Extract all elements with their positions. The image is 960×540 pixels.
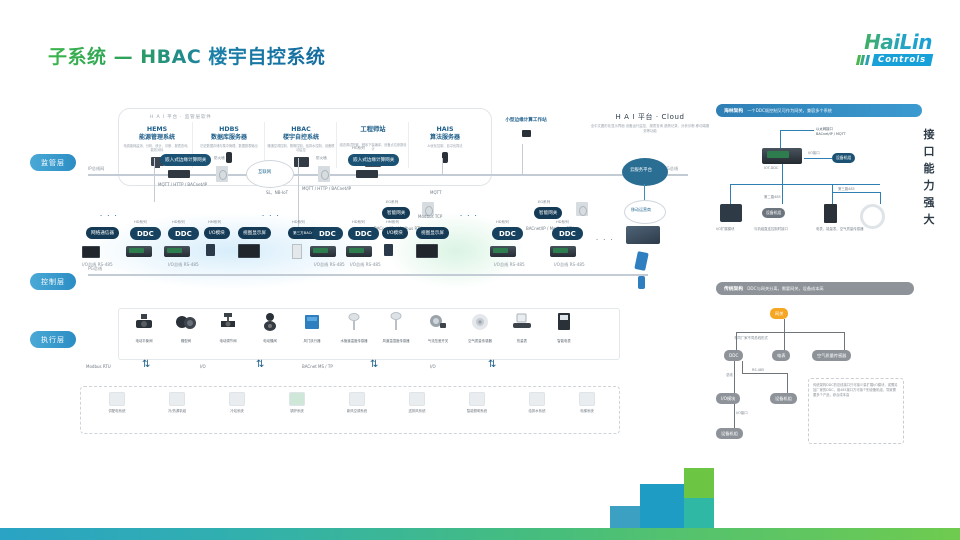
uplink-interface-label: 以太网接口	[816, 126, 833, 131]
io-module-icon	[384, 244, 393, 256]
io-expansion-caption: I/O扩展模块	[716, 226, 734, 231]
control-valve-icon	[218, 312, 238, 332]
router-icon	[82, 246, 100, 258]
protocol-io-1: I/O	[200, 364, 206, 369]
damper-actuator-icon	[302, 312, 322, 332]
firewall-icon-1	[216, 166, 228, 182]
cloud-platform-label: 云服务平台	[630, 167, 652, 173]
series-label-hd-1: HD系列	[134, 220, 147, 225]
elevator-icon	[579, 392, 595, 406]
cloud-platform-title: H A I 平台 · Cloud 全中文图形化显示界面 设备运行监控、报表查询 …	[590, 112, 710, 134]
logo-bars-icon	[857, 55, 869, 65]
series-label-hd-3: HD系列	[292, 220, 305, 225]
system-item[interactable]: 锅炉系统	[268, 392, 326, 413]
workstation-icon	[294, 157, 309, 167]
layer-label-supervision: 监管层	[30, 154, 76, 171]
logo-wordmark: HaiLin	[824, 32, 932, 52]
system-item[interactable]: 送排风系统	[388, 392, 446, 413]
ddc-icon	[310, 246, 336, 257]
chiller-icon	[169, 392, 185, 406]
link-label-485: RS-485	[752, 368, 764, 372]
bus-label-485-3: 第三路485	[838, 186, 855, 191]
edge-workstation[interactable]: 小型边缘计算工作站	[500, 118, 552, 137]
firewall-icon-4	[576, 202, 588, 216]
water-supply-icon	[529, 392, 545, 406]
exec-item[interactable]: 智能电表	[536, 312, 592, 343]
firewall-label-1: 防火墙	[214, 156, 225, 161]
supervision-cell-hais[interactable]: HAIS 算法服务器 AI优化控制、自寻优算法	[410, 126, 480, 163]
smart-meter-icon	[555, 312, 573, 332]
pipe-temp-sensor-icon	[344, 312, 364, 332]
protocol-bacnet-mstp: BACnet MS / TP	[302, 364, 333, 369]
bus-label-ip: IP总线网	[88, 166, 104, 172]
io-module-icon	[206, 244, 215, 256]
protocol-mqtt-1: MQTT / HTTP / BACnet/IP	[158, 182, 207, 187]
hailin-node-device-1[interactable]: 设备机组	[832, 153, 855, 163]
control-device-tag-ddc-6[interactable]: DDC	[552, 227, 583, 240]
gateway-tag[interactable]: 嵌入式边缘计算网关	[348, 154, 399, 166]
firewall-icon-2	[318, 166, 330, 182]
edge-workstation-icon	[522, 130, 531, 137]
firewall-label-2: 防火墙	[316, 156, 327, 161]
series-label-hm-2: HM系列	[386, 220, 399, 225]
hailin-arch-header: 海林架构 一个DDC既控制又可作为网关，兼容多个系统	[716, 104, 922, 117]
traditional-gateway-node[interactable]: 网关	[770, 308, 788, 319]
traditional-node-meter[interactable]: 电表	[772, 350, 790, 361]
layer-label-control: 控制层	[30, 273, 76, 290]
screen-icon	[416, 244, 438, 258]
flow-arrows-icon: ⇅	[488, 360, 496, 370]
logo-controls-badge: Controls	[872, 54, 934, 66]
boiler-icon	[289, 392, 305, 406]
ddc-icon	[346, 246, 372, 257]
control-device-tag-screen-1[interactable]: 视图显示屏	[238, 227, 271, 239]
slide: 子系统 — HBAC 楼宇自控系统 HaiLin Controls 监管层 控制…	[0, 0, 960, 540]
iot-ddc-board-icon	[767, 151, 789, 158]
page-title: 子系统 — HBAC 楼宇自控系统	[48, 42, 325, 69]
internet-label: 互联网	[258, 169, 271, 175]
butterfly-valve-icon	[175, 312, 197, 332]
lighting-icon	[469, 392, 485, 406]
laptop-device-icon	[626, 226, 660, 244]
system-item[interactable]: 冷/热源机组	[148, 392, 206, 413]
smart-gateway-tag-1[interactable]: 智能网关	[382, 207, 410, 219]
vertical-headline: 接口能力强大	[922, 126, 936, 228]
traditional-node-unit-1[interactable]: 设备机组	[770, 393, 797, 404]
bus-label-485-2: 第二路485	[764, 194, 781, 199]
protocol-sl-nbiot: SL、NB-IoT	[266, 190, 288, 196]
system-item[interactable]: 供配电系统	[88, 392, 146, 413]
system-item[interactable]: 电梯系统	[558, 392, 616, 413]
layer-label-execution: 执行层	[30, 331, 76, 348]
link-label-io: I/O接口	[736, 410, 748, 415]
mobile-operator-label: 移动运营商	[631, 207, 651, 213]
protocol-mqtt-only: MQTT	[430, 190, 441, 195]
io-bus-label-5: I/O总线 RS-485	[494, 262, 525, 268]
io-bus-label-2: I/O总线 RS-485	[168, 262, 199, 268]
ddc-icon	[126, 246, 152, 257]
series-label-hm-1: HM系列	[208, 220, 221, 225]
gateway-device-icon	[356, 170, 378, 178]
hailin-node-device-2[interactable]: 设备机组	[762, 208, 785, 218]
control-device-tag-ddc-2[interactable]: DDC	[168, 227, 199, 240]
system-item[interactable]: 智能照明系统	[448, 392, 506, 413]
cooling-station-icon	[229, 392, 245, 406]
ddc-icon	[490, 246, 516, 257]
direct-connect-caption: 与机组直连控制时接口	[754, 226, 788, 231]
protocol-modbus-rtu: Modbus RTU	[86, 364, 111, 369]
edge-gateway-device-icon	[168, 170, 190, 178]
server-icon	[226, 152, 232, 163]
pressure-switch-icon	[428, 312, 448, 332]
ddc-icon	[550, 246, 576, 257]
ddc-icon	[164, 246, 190, 257]
protocol-io-2: I/O	[430, 364, 436, 369]
traditional-node-unit-2[interactable]: 设备机组	[716, 428, 743, 439]
electric-butterfly-valve-icon	[260, 312, 280, 332]
heat-meter-icon	[511, 312, 533, 332]
screen-icon	[238, 244, 260, 258]
series-label-hd-4: HD系列	[352, 220, 365, 225]
traditional-node-ddc[interactable]: DDC	[724, 350, 743, 361]
air-quality-device-icon	[860, 204, 885, 229]
architecture-diagram: 监管层 控制层 执行层 H A I 平台 · 监管层软件 HEMS 能源管理系统…	[30, 96, 710, 446]
edge-gateway-tag[interactable]: 嵌入式边缘计算网关	[160, 154, 211, 166]
meters-caption: 电表、能量表、空气质量传感器	[816, 226, 863, 231]
protocol-mqtt-2: MQTT / HTTP / BACnet/IP	[302, 186, 351, 191]
control-device-tag-io-2[interactable]: I/O模块	[382, 227, 408, 239]
series-label-hd-2: HD系列	[172, 220, 185, 225]
control-device-tag-ddc-1[interactable]: DDC	[130, 227, 161, 240]
control-device-tag-screen-2[interactable]: 视图显示屏	[416, 227, 449, 239]
eg-series-label-2: EG系列	[538, 200, 550, 205]
traditional-node-io[interactable]: I/O模块	[716, 393, 740, 404]
iot-ddc-label: IOT-DDC	[764, 166, 778, 170]
control-device-tag-ddc-4[interactable]: DDC	[348, 227, 379, 240]
air-quality-sensor-icon	[470, 312, 490, 332]
control-device-tag-ddc-3[interactable]: DDC	[312, 227, 343, 240]
traditional-note: 传统架构DDC的总线接口只可接少量扩展I/O模块，或需另加厂家的DDC，用485…	[808, 378, 904, 444]
smart-gateway-tag-2[interactable]: 智能网关	[534, 207, 562, 219]
io-bus-label-3: I/O总线 RS-485	[314, 262, 345, 268]
series-label-hd-5: HD系列	[496, 220, 509, 225]
valve-icon	[134, 312, 154, 332]
uplink-protocol-label: BACnet/IP / MQTT	[816, 132, 846, 136]
traditional-arch-header: 传统架构 DDC与网关分离，需要网关，设备成本高	[716, 282, 914, 295]
protocol-modbus-tcp: Modbus TCP	[418, 214, 442, 219]
tablet-device-icon	[634, 251, 649, 271]
io-bus-label-4: I/O总线 RS-485	[350, 262, 381, 268]
phone-device-icon	[638, 276, 645, 289]
brand-logo: HaiLin Controls	[824, 32, 932, 76]
system-item[interactable]: 冷站系统	[208, 392, 266, 413]
flow-arrows-icon: ⇅	[370, 360, 378, 370]
control-device-tag-router[interactable]: 网络通信器	[86, 227, 119, 239]
meter-device-icon	[824, 204, 837, 223]
flow-arrows-icon: ⇅	[256, 360, 264, 370]
io-interface-label: I/O接口	[808, 150, 820, 155]
ventilation-icon	[409, 392, 425, 406]
comparison-panel: 接口能力强大 海林架构 一个DDC既控制又可作为网关，兼容多个系统 IOT-DD…	[712, 100, 940, 450]
gateway-series-label: HG系列	[352, 146, 365, 151]
traditional-node-aq[interactable]: 空气质量传感器	[812, 350, 851, 361]
system-item[interactable]: 新风空调系统	[328, 392, 386, 413]
io-expansion-module-icon	[720, 204, 742, 222]
footer-decoration	[0, 468, 960, 540]
io-bus-label-1: I/O总线 RS-485	[82, 262, 113, 268]
control-device-tag-io-1[interactable]: I/O模块	[204, 227, 230, 239]
branch-label: 不同厂家不同总线形式	[734, 335, 768, 340]
eg-series-label-1: EG系列	[386, 200, 398, 205]
ahu-icon	[349, 392, 365, 406]
duct-humidity-sensor-icon	[386, 312, 406, 332]
series-label-hd-6: HD系列	[556, 220, 569, 225]
supervision-header: H A I 平台 · 监管层软件	[150, 114, 212, 120]
control-device-tag-ddc-5[interactable]: DDC	[492, 227, 523, 240]
third-party-icon	[292, 244, 302, 259]
link-label-bus: 总线	[726, 372, 733, 377]
io-bus-label-6: I/O总线 RS-485	[554, 262, 585, 268]
power-system-icon	[109, 392, 125, 406]
flow-arrows-icon: ⇅	[142, 360, 150, 370]
